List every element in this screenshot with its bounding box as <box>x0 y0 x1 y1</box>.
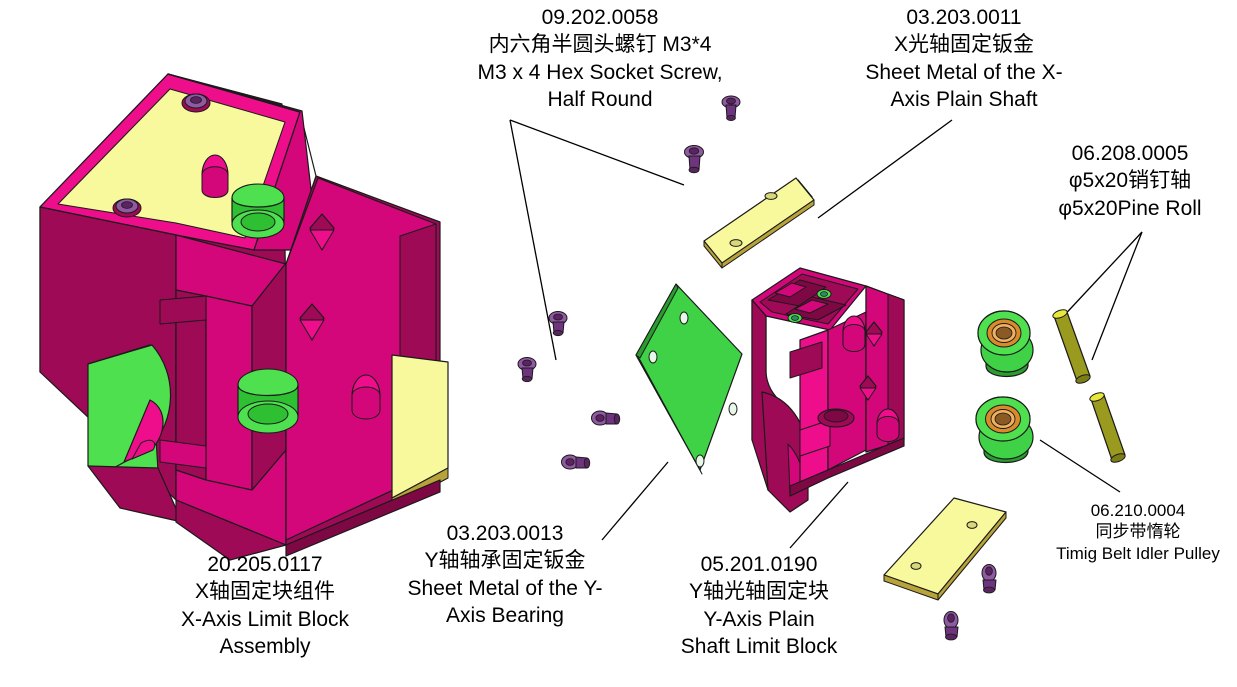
part-x-axis-limit-block-assembly <box>40 74 448 560</box>
bore-hole-upper <box>202 155 228 198</box>
label-name-cn: 内六角半圆头螺钉 M3*4 <box>432 31 768 58</box>
label-name-en-1: Timig Belt Idler Pulley <box>1040 543 1236 564</box>
bore-hole-lower <box>352 375 380 419</box>
label-code: 05.201.0190 <box>640 551 878 578</box>
label-code: 06.208.0005 <box>1030 140 1230 167</box>
screw-8 <box>944 612 958 641</box>
part-pin-roll-1 <box>1052 308 1092 385</box>
leader-screw-a <box>510 120 556 360</box>
label-code: 03.203.0011 <box>828 4 1100 31</box>
label-name-cn: Y轴光轴固定块 <box>640 578 878 605</box>
part-idler-pulley-2 <box>976 397 1033 463</box>
label-y-limit-block: 05.201.0190 Y轴光轴固定块 Y-Axis Plain Shaft L… <box>640 551 878 660</box>
label-y-bearing-sheet-metal: 03.203.0013 Y轴轴承固定钣金 Sheet Metal of the … <box>380 520 630 629</box>
label-hex-socket-screw: 09.202.0058 内六角半圆头螺钉 M3*4 M3 x 4 Hex Soc… <box>432 4 768 113</box>
label-name-cn: X光轴固定钣金 <box>828 31 1100 58</box>
part-y-bearing-sheet-metal <box>636 284 742 474</box>
leader-screw-b <box>510 120 684 185</box>
screw-top-1 <box>182 94 210 112</box>
y-block-bore-lower <box>877 409 899 442</box>
screw-7 <box>982 565 996 594</box>
label-name-en-1: Sheet Metal of the Y- <box>380 575 630 602</box>
label-name-cn: 同步带惰轮 <box>1040 521 1236 542</box>
label-name-en-1: X-Axis Limit Block <box>130 606 400 633</box>
label-name-en-1: φ5x20Pine Roll <box>1030 195 1230 222</box>
screw-3 <box>549 312 567 336</box>
label-name-en-1: Sheet Metal of the X- <box>828 59 1100 86</box>
leader-pin-roll-b <box>1058 232 1142 322</box>
part-y-axis-limit-block <box>752 268 904 512</box>
label-name-en-2: Half Round <box>432 86 768 113</box>
label-code: 03.203.0013 <box>380 520 630 547</box>
screw-4 <box>518 358 536 382</box>
label-name-en-2: Axis Bearing <box>380 602 630 629</box>
screw-2 <box>685 146 704 173</box>
part-pin-roll-2 <box>1089 391 1127 464</box>
label-x-sheet-metal: 03.203.0011 X光轴固定钣金 Sheet Metal of the X… <box>828 4 1100 113</box>
label-x-limit-block-assembly: 20.205.0117 X轴固定块组件 X-Axis Limit Block A… <box>130 551 400 660</box>
y-block-bore-upper <box>843 316 865 352</box>
label-name-en-2: Axis Plain Shaft <box>828 86 1100 113</box>
label-code: 09.202.0058 <box>432 4 768 31</box>
label-name-cn: X轴固定块组件 <box>130 578 400 605</box>
part-idler-pulley-1 <box>978 311 1033 377</box>
label-name-en-2: Assembly <box>130 633 400 660</box>
label-name-en-1: M3 x 4 Hex Socket Screw, <box>432 59 768 86</box>
label-idler-pulley: 06.210.0004 同步带惰轮 Timig Belt Idler Pulle… <box>1040 500 1236 564</box>
screw-top-2 <box>113 199 141 217</box>
label-name-cn: φ5x20销钉轴 <box>1030 167 1230 194</box>
label-code: 06.210.0004 <box>1040 500 1236 521</box>
green-bushing-top <box>232 184 284 238</box>
y-block-slot <box>818 409 854 427</box>
label-name-en-1: Y-Axis Plain <box>640 606 878 633</box>
screw-6 <box>562 455 590 469</box>
part-x-sheet-metal-plate <box>704 178 814 268</box>
exploded-diagram-canvas: .ol{stroke:#1a1a1a;stroke-width:1.2;stro… <box>0 0 1237 687</box>
label-name-en-2: Shaft Limit Block <box>640 633 878 660</box>
green-bushing-bottom <box>238 369 298 433</box>
screw-5 <box>592 411 620 425</box>
leader-pin-roll-a <box>1092 232 1142 360</box>
label-code: 20.205.0117 <box>130 551 400 578</box>
label-pin-roll: 06.208.0005 φ5x20销钉轴 φ5x20Pine Roll <box>1030 140 1230 222</box>
leader-x-sheet-metal <box>818 120 952 218</box>
label-name-cn: Y轴轴承固定钣金 <box>380 547 630 574</box>
